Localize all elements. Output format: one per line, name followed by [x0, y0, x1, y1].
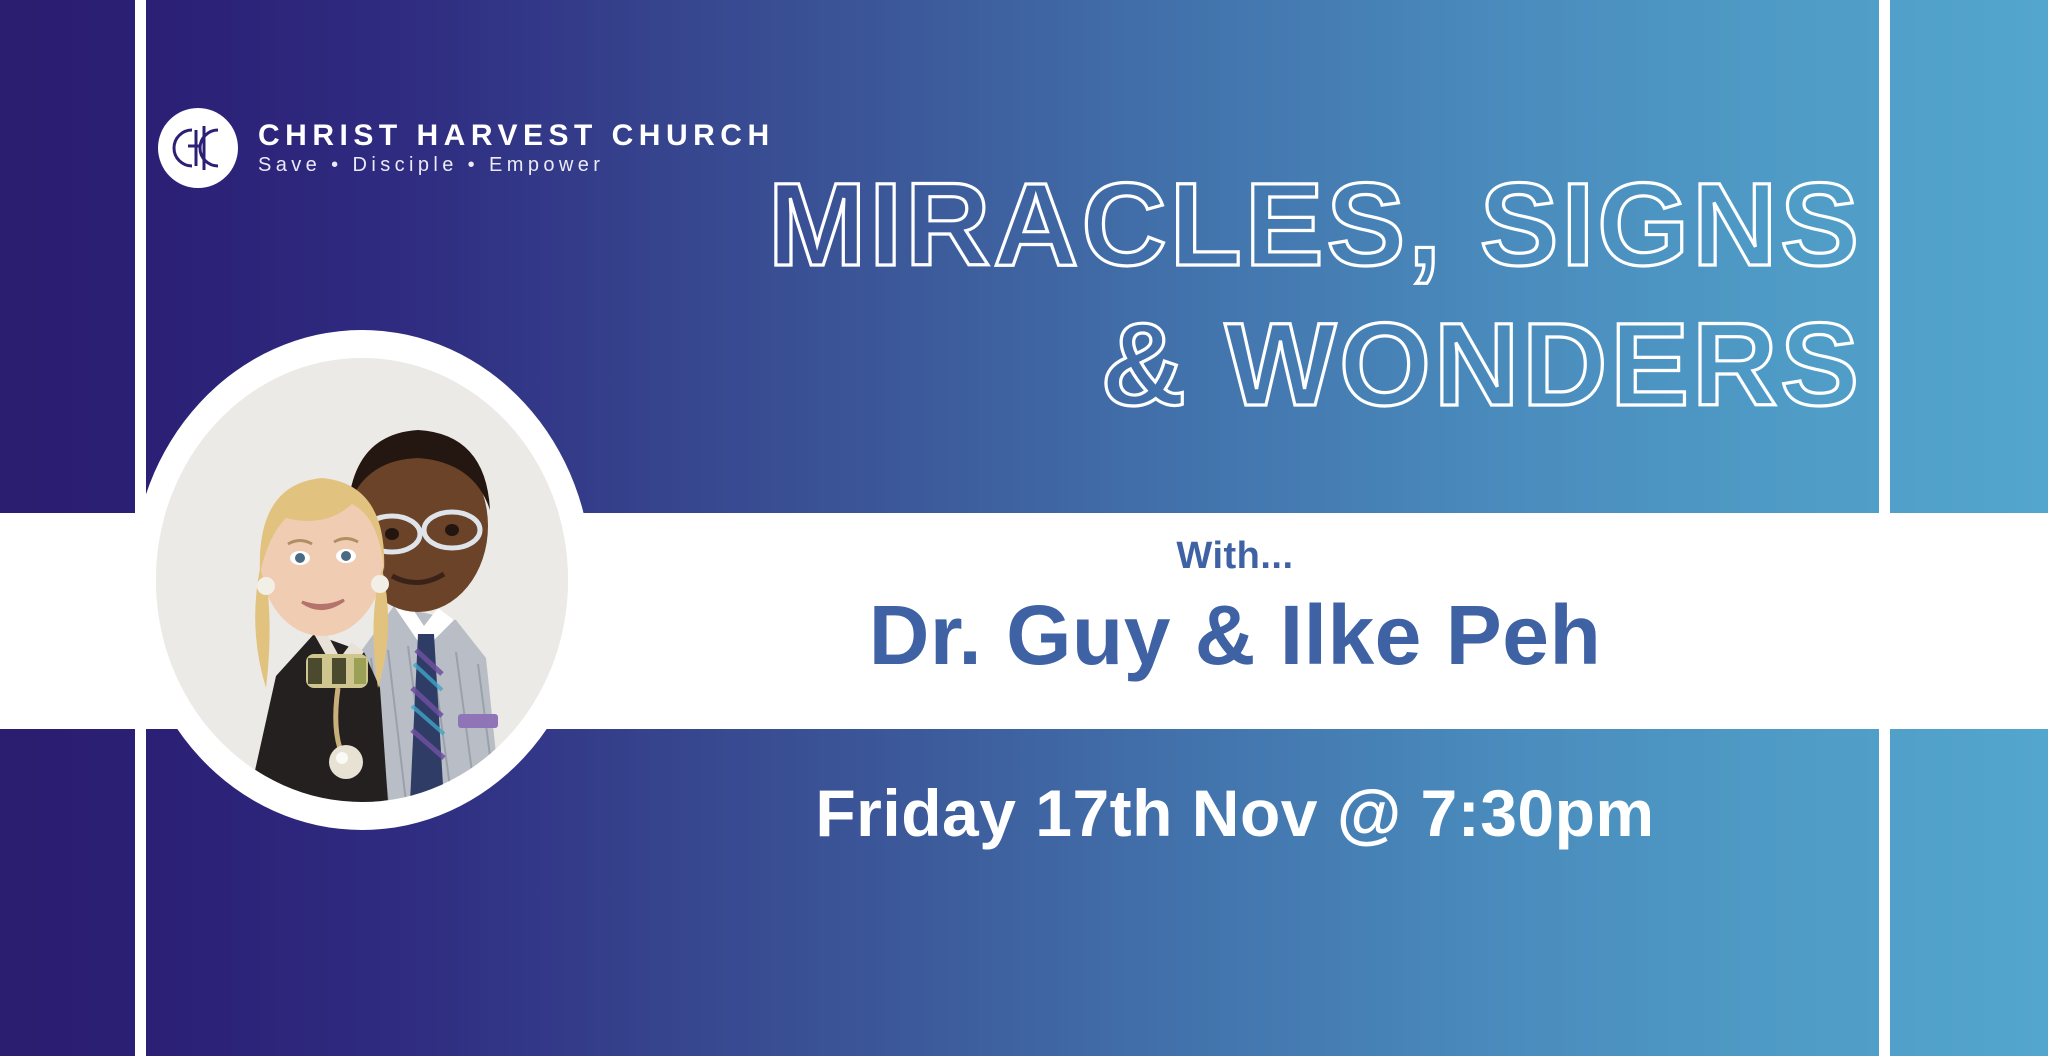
church-logo-lockup: CHRIST HARVEST CHURCH Save • Disciple • …	[158, 108, 775, 188]
headline: MIRACLES, SIGNS & WONDERS	[600, 150, 1870, 450]
event-banner: CHRIST HARVEST CHURCH Save • Disciple • …	[0, 0, 2048, 1056]
church-name: CHRIST HARVEST CHURCH	[258, 121, 775, 151]
event-date-time: Friday 17th Nov @ 7:30pm	[600, 780, 1870, 846]
speaker-name: Dr. Guy & Ilke Peh	[600, 593, 1870, 677]
logo-wordmark: CHRIST HARVEST CHURCH Save • Disciple • …	[258, 121, 775, 175]
with-label: With...	[600, 537, 1870, 575]
speaker-portrait	[132, 330, 592, 830]
church-tagline: Save • Disciple • Empower	[258, 155, 775, 175]
portrait-photo	[156, 358, 568, 802]
chc-monogram-icon	[158, 108, 238, 188]
headline-line2: & WONDERS	[1101, 299, 1862, 431]
speaker-block: With... Dr. Guy & Ilke Peh	[600, 537, 1870, 677]
headline-line1: MIRACLES, SIGNS	[768, 159, 1862, 291]
